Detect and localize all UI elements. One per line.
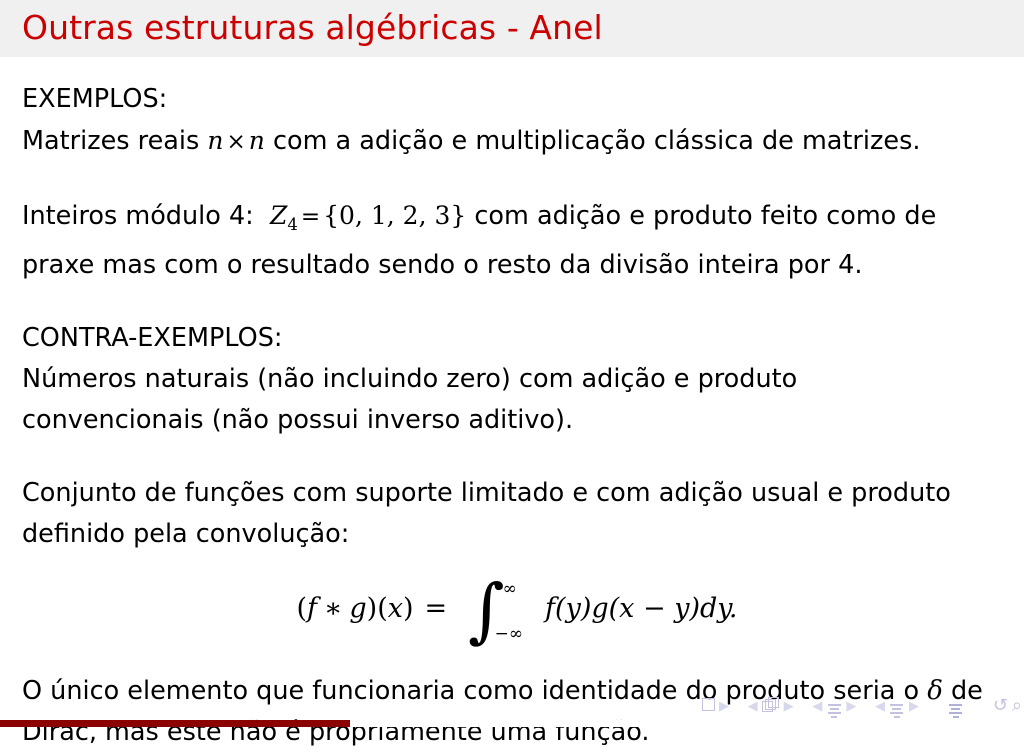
convolution-equation: (f∗g)(x)= ∫ ∞ −∞ f(y)g(x − y)dy. <box>22 571 1012 645</box>
paragraph-spacer <box>22 163 1012 195</box>
prev-section-icon[interactable]: ◀ <box>812 700 822 713</box>
examples-matrices-line: Matrizes reais n×n com a adição e multip… <box>22 120 1012 163</box>
presentation-bars-icon[interactable] <box>889 693 905 719</box>
counterexamples-line-2: convencionais (não possui inverso aditiv… <box>22 400 1012 441</box>
appendix-bars-icon[interactable] <box>948 693 964 719</box>
section-bars-icon[interactable] <box>826 693 842 719</box>
integral-limits: ∞ −∞ <box>501 571 529 645</box>
eq-function-f: f <box>307 588 317 629</box>
eq-function-g: g <box>349 588 366 629</box>
matrices-text-b: com a adição e multiplicação clássica de… <box>265 126 921 156</box>
matrices-text-a: Matrizes reais <box>22 126 207 156</box>
frame-square-icon[interactable] <box>702 698 715 714</box>
search-icon[interactable]: ⌕ <box>1012 697 1022 715</box>
eq-paren-open: ( <box>296 588 307 629</box>
slide-stack-icon[interactable] <box>762 697 780 715</box>
modulo-line-1: Inteiros módulo 4: Z4={0, 1, 2, 3} com a… <box>22 195 1012 245</box>
eq-equals: = <box>414 588 459 629</box>
eq-paren-close: ) <box>403 588 414 629</box>
times-symbol: × <box>223 129 248 155</box>
next-presentation-icon[interactable]: ▶ <box>909 700 919 713</box>
matrix-dim-n1: n <box>207 126 223 155</box>
next-subsection-icon[interactable]: ▶ <box>784 700 794 713</box>
eq-paren-close-open: )( <box>367 588 388 629</box>
modulo-set-literal: {0, 1, 2, 3} <box>323 201 466 230</box>
modulo-line-2: praxe mas com o resultado sendo o resto … <box>22 245 1012 286</box>
paragraph-spacer <box>22 286 1012 318</box>
integral-upper-limit: ∞ <box>503 569 531 610</box>
modulo-lead-text: Inteiros módulo 4: <box>22 201 254 231</box>
z-four-symbol: Z4 <box>270 201 298 230</box>
slide-header: Outras estruturas algébricas - Anel <box>0 0 1024 57</box>
paragraph-spacer <box>22 441 1012 473</box>
eq-convolution-operator: ∗ <box>317 588 349 629</box>
prev-subsection-icon[interactable]: ◀ <box>748 700 758 713</box>
modulo-tail-1: com adição e produto feito como de <box>474 201 936 231</box>
back-icon[interactable]: ↺ <box>993 697 1008 715</box>
convolution-line-2: definido pela convolução: <box>22 514 1012 555</box>
integral-operator: ∫ ∞ −∞ <box>468 571 529 645</box>
slide-content: EXEMPLOS: Matrizes reais n×n com a adiçã… <box>22 79 1012 753</box>
eq-variable-x: x <box>388 588 403 629</box>
integral-lower-limit: −∞ <box>495 614 523 655</box>
page-title: Outras estruturas algébricas - Anel <box>22 6 603 50</box>
examples-heading: EXEMPLOS: <box>22 79 1012 120</box>
equals-symbol: = <box>298 204 323 230</box>
convolution-block: Conjunto de funções com suporte limitado… <box>22 473 1012 555</box>
next-section-icon[interactable]: ▶ <box>846 700 856 713</box>
slide-progress-track <box>0 720 1024 727</box>
slide-body: EXEMPLOS: Matrizes reais n×n com a adiçã… <box>0 57 1024 727</box>
next-frame-icon[interactable]: ▶ <box>719 700 729 713</box>
matrix-dim-n2: n <box>249 126 265 155</box>
eq-integrand: f(y)g(x − y)dy. <box>545 588 737 629</box>
prev-presentation-icon[interactable]: ◀ <box>875 700 885 713</box>
closing-line-2: Dirac, mas este não é propriamente uma f… <box>22 712 1012 753</box>
modulo-block: Inteiros módulo 4: Z4={0, 1, 2, 3} com a… <box>22 195 1012 286</box>
beamer-navigation-bar[interactable]: ▶ ◀ ▶ ◀ ▶ ◀ ▶ ↺ ⌕ <box>700 694 1024 718</box>
examples-block: EXEMPLOS: Matrizes reais n×n com a adiçã… <box>22 79 1012 163</box>
slide-progress-fill <box>0 720 350 727</box>
counterexamples-heading: CONTRA-EXEMPLOS: <box>22 318 1012 359</box>
counterexamples-block: CONTRA-EXEMPLOS: Números naturais (não i… <box>22 318 1012 441</box>
counterexamples-line-1: Números naturais (não incluindo zero) co… <box>22 359 1012 400</box>
convolution-line-1: Conjunto de funções com suporte limitado… <box>22 473 1012 514</box>
